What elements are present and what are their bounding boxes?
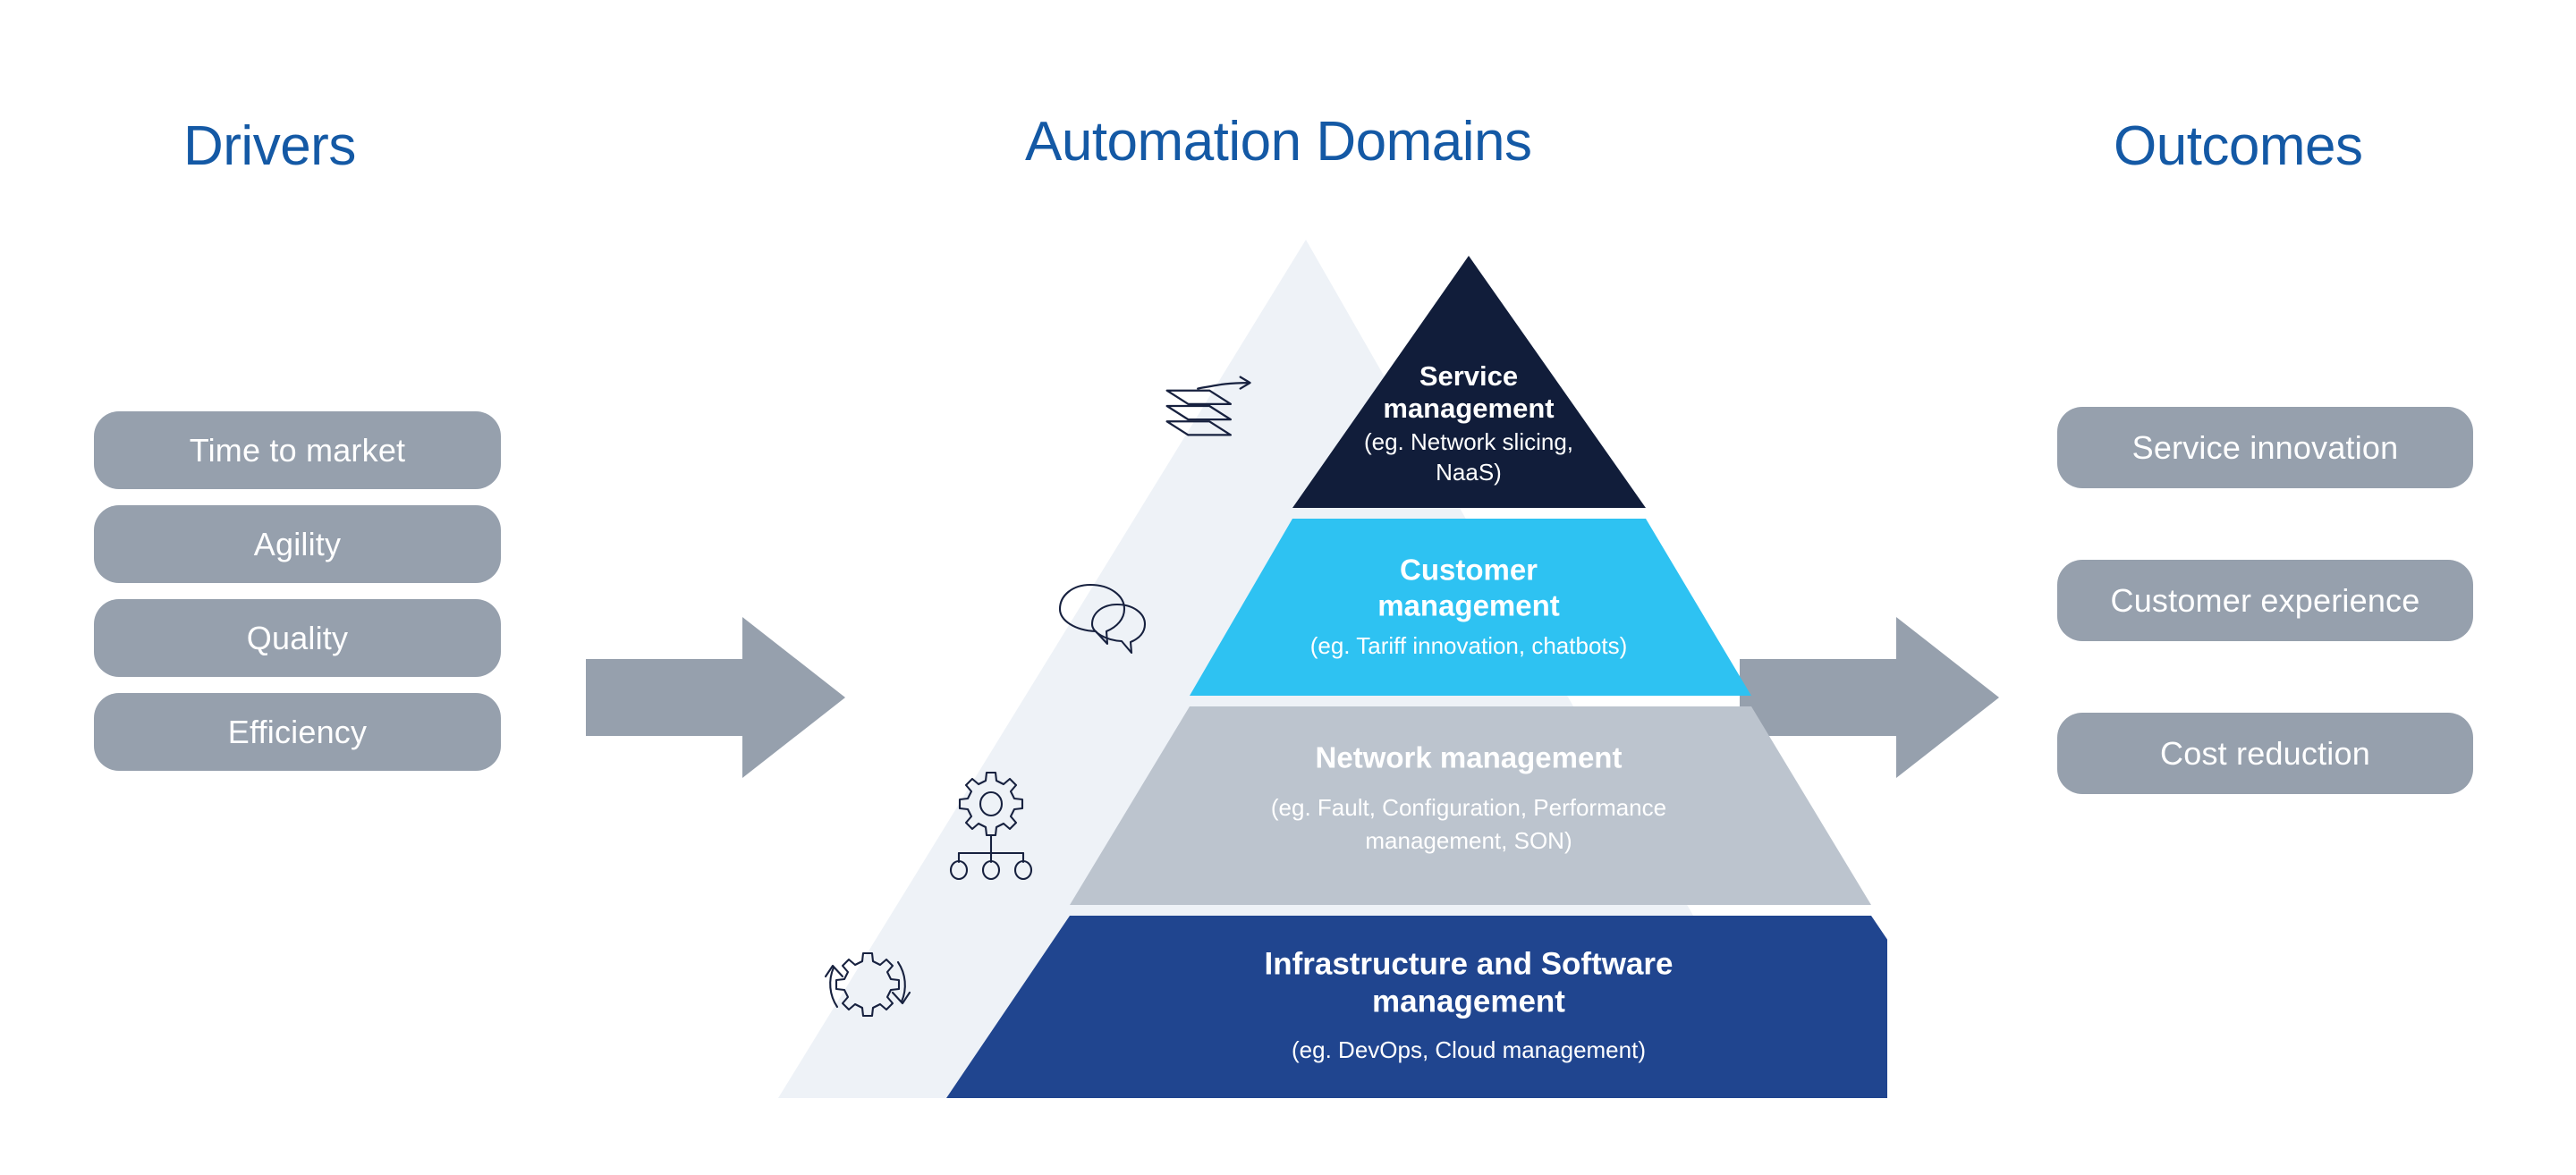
outcome-label: Service innovation — [2132, 429, 2399, 467]
drivers-heading: Drivers — [183, 119, 356, 174]
automation-domains-pyramid: Service management (eg. Network slicing,… — [733, 240, 1887, 1098]
automation-domains-heading: Automation Domains — [1025, 114, 1532, 170]
svg-text:(eg. Tariff innovation, chatbo: (eg. Tariff innovation, chatbots) — [1310, 632, 1628, 659]
driver-label: Agility — [254, 526, 341, 563]
svg-text:management, SON): management, SON) — [1365, 827, 1572, 854]
outcome-pill-cost-reduction[interactable]: Cost reduction — [2057, 713, 2473, 794]
svg-text:Network management: Network management — [1316, 741, 1623, 774]
outcomes-heading: Outcomes — [2114, 119, 2363, 174]
driver-label: Time to market — [190, 432, 406, 469]
svg-text:NaaS): NaaS) — [1436, 459, 1502, 486]
svg-text:Customer: Customer — [1400, 554, 1538, 587]
driver-pill-agility[interactable]: Agility — [94, 505, 501, 583]
driver-label: Quality — [247, 620, 348, 657]
outcome-pill-service-innovation[interactable]: Service innovation — [2057, 407, 2473, 488]
outcome-pill-customer-experience[interactable]: Customer experience — [2057, 560, 2473, 641]
svg-text:management: management — [1383, 393, 1554, 424]
svg-text:Infrastructure and Software: Infrastructure and Software — [1264, 946, 1673, 981]
svg-text:Service: Service — [1419, 360, 1518, 392]
drivers-list: Time to market Agility Quality Efficienc… — [94, 411, 501, 771]
svg-text:management: management — [1377, 589, 1560, 622]
driver-pill-time-to-market[interactable]: Time to market — [94, 411, 501, 489]
outcomes-list: Service innovation Customer experience C… — [2057, 407, 2473, 794]
driver-label: Efficiency — [228, 714, 367, 751]
svg-text:(eg. Fault, Configuration, Per: (eg. Fault, Configuration, Performance — [1271, 794, 1666, 821]
outcome-label: Customer experience — [2111, 582, 2420, 620]
svg-text:(eg. DevOps, Cloud management): (eg. DevOps, Cloud management) — [1292, 1036, 1646, 1063]
outcome-label: Cost reduction — [2160, 735, 2370, 773]
svg-text:(eg. Network slicing,: (eg. Network slicing, — [1364, 428, 1573, 455]
svg-text:management: management — [1372, 984, 1565, 1019]
driver-pill-quality[interactable]: Quality — [94, 599, 501, 677]
driver-pill-efficiency[interactable]: Efficiency — [94, 693, 501, 771]
